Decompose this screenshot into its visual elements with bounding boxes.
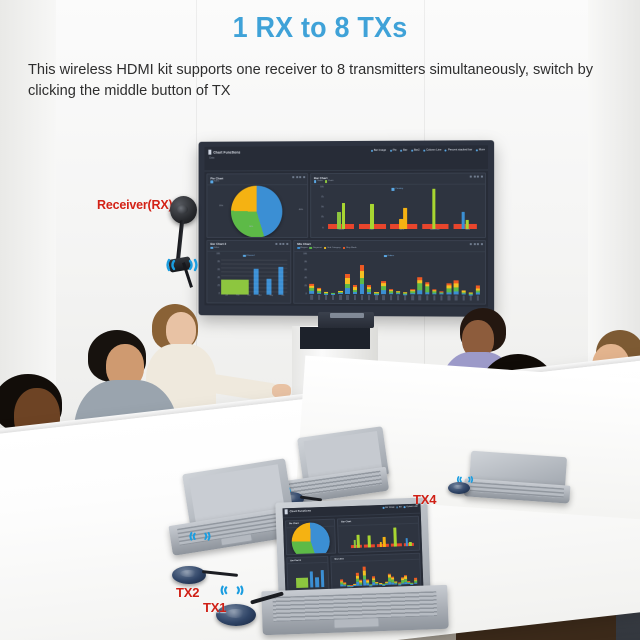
- stack-segment: [345, 288, 349, 294]
- menu-icon: [285, 509, 288, 514]
- stack-segment: [418, 283, 422, 290]
- tool-icon[interactable]: [292, 176, 294, 178]
- menu-item[interactable]: Bar2: [411, 149, 420, 152]
- tool-icon[interactable]: [477, 176, 479, 178]
- menu-item[interactable]: Percent stacked bar: [445, 148, 472, 151]
- bullet-icon: [371, 149, 373, 151]
- y-axis: 100806040200: [296, 252, 307, 294]
- menu-icon: [208, 150, 211, 155]
- tv-screen: Chart Functions Data Bar Image Pie Bar B…: [204, 145, 488, 306]
- stack-segment: [447, 292, 451, 294]
- stack-segment: [476, 293, 480, 295]
- stacked-bar: [331, 288, 335, 294]
- bullet-icon: [390, 149, 392, 151]
- menu-item[interactable]: More: [476, 148, 485, 151]
- stacked-bar: [345, 268, 349, 294]
- legend-swatch: [384, 255, 387, 258]
- bullet-icon: [411, 149, 413, 151]
- stack-segment: [425, 292, 429, 294]
- wifi-icon: [165, 256, 199, 276]
- bullet-icon: [476, 149, 478, 151]
- legend-swatch: [324, 246, 326, 248]
- wall-tv: Chart Functions Data Bar Image Pie Bar B…: [197, 141, 493, 316]
- panel-body: Orders 100806040200: [294, 250, 485, 303]
- bullet-icon: [396, 507, 397, 508]
- stacked-bar: [413, 572, 416, 583]
- stack-segment: [338, 293, 342, 294]
- transmitter-dongle-icon: [172, 566, 206, 584]
- panel-bar-chart: Bar Chart Sales Profit: [310, 173, 486, 238]
- bullet-icon: [383, 507, 384, 508]
- stack-segment: [374, 294, 378, 295]
- stacked-bar: [461, 282, 465, 295]
- bullet-icon: [404, 506, 405, 507]
- panel-tools[interactable]: [470, 176, 483, 178]
- x-tick: [346, 295, 348, 300]
- x-tick: [470, 296, 472, 301]
- stack-segment: [396, 293, 400, 294]
- tool-icon[interactable]: [474, 243, 476, 245]
- stack-segment: [418, 290, 422, 294]
- laptop-panel-pie: Pie Chart: [285, 519, 336, 556]
- product-marketing-image: 1 RX to 8 TXs This wireless HDMI kit sup…: [0, 0, 640, 640]
- panel-mix-chart: Mix Chart Region Segment Sub Category Sh…: [293, 239, 486, 304]
- stacked-bar: [353, 277, 357, 294]
- menu-item[interactable]: Bar Image: [371, 149, 386, 152]
- stacked-bar: [454, 272, 458, 294]
- tool-icon[interactable]: [279, 242, 281, 244]
- stacked-bar: [476, 277, 480, 294]
- legend-swatch: [210, 246, 212, 248]
- menu-item[interactable]: Bar: [400, 149, 407, 152]
- pie-slice-label: 30%: [249, 226, 253, 228]
- stacked-bar: [425, 274, 429, 294]
- x-axis: Central East North South East West: [325, 229, 483, 236]
- tool-icon[interactable]: [276, 242, 278, 244]
- receiver-label: Receiver(RX): [97, 198, 172, 212]
- tool-icon[interactable]: [481, 243, 483, 245]
- stack-segment: [432, 293, 436, 294]
- bullet-icon: [400, 149, 402, 151]
- pie-slice-label: 45%: [299, 209, 303, 211]
- x-tick: [411, 295, 413, 300]
- dashboard-row-top: Pie Chart Sales: [206, 173, 486, 238]
- x-tick: [419, 295, 421, 300]
- x-tick: [448, 295, 450, 300]
- tx4-label: TX4: [413, 492, 436, 507]
- legend-swatch: [243, 254, 245, 256]
- panel-bar-chart-2: Bar Chart 2 Value: [206, 239, 291, 303]
- dashboard-menu: Bar Image Pie Bar Bar2 Column Line Perce…: [371, 148, 485, 152]
- stacked-bar: [403, 286, 407, 294]
- x-tick: [354, 295, 356, 300]
- laptop-stacked-plot: [340, 561, 418, 586]
- panel-tools[interactable]: [276, 242, 289, 244]
- area-fill: [221, 280, 249, 295]
- menu-item[interactable]: Pie: [390, 149, 397, 152]
- laptop-keyboard[interactable]: [470, 481, 564, 498]
- dashboard: Chart Functions Data Bar Image Pie Bar B…: [204, 145, 488, 306]
- panel-legend: Value: [210, 246, 219, 248]
- stack-segment: [414, 583, 417, 584]
- laptop-panel-bar: Bar Chart: [337, 516, 420, 554]
- tool-icon[interactable]: [286, 242, 288, 244]
- stacked-bar: [432, 281, 436, 294]
- page-subtext: This wireless HDMI kit supports one rece…: [28, 60, 622, 102]
- stack-segment: [324, 293, 328, 294]
- laptop-panel-mix: Mix Chart: [330, 553, 421, 591]
- stack-segment: [317, 292, 321, 293]
- stack-segment: [461, 293, 465, 294]
- stack-segment: [353, 292, 357, 294]
- tool-icon[interactable]: [470, 243, 472, 245]
- stacked-bar: [410, 281, 414, 294]
- stacked-bar: [338, 283, 342, 294]
- panel-body: Channel 100806040200: [207, 250, 290, 302]
- stack-segment: [360, 285, 364, 295]
- x-tick: [477, 296, 479, 301]
- x-tick: [361, 295, 363, 300]
- tool-icon[interactable]: [303, 176, 305, 178]
- stack-segment: [367, 292, 371, 294]
- tv-bezel: Chart Functions Data Bar Image Pie Bar B…: [199, 140, 495, 317]
- x-axis-ticks: [308, 295, 482, 301]
- legend-swatch: [297, 246, 299, 248]
- laptop-dashboard: Chart Functions Bar Image Bar Column Lin…: [283, 504, 424, 595]
- x-tick: [318, 295, 320, 300]
- laptop-pie-chart: [291, 522, 330, 556]
- stacked-bar: [317, 279, 321, 293]
- x-tick: [311, 295, 313, 300]
- panel-body: Country 1007550250: [311, 184, 485, 237]
- tx2-label: TX2: [176, 585, 199, 600]
- panel-body: Region 25% 45% 30%: [207, 184, 307, 236]
- tool-icon[interactable]: [474, 176, 476, 178]
- dashboard-grid: Pie Chart Sales: [204, 170, 488, 306]
- stacked-bar: [396, 284, 400, 294]
- tool-icon[interactable]: [470, 176, 472, 178]
- stacked-bar: [418, 270, 422, 294]
- stacked-bar: [367, 277, 371, 294]
- dashboard-header: Chart Functions Data Bar Image Pie Bar B…: [204, 145, 488, 171]
- stack-segment: [469, 294, 473, 295]
- stack-segment: [439, 294, 443, 295]
- bullet-icon: [423, 149, 425, 151]
- mix-top-label: Orders: [384, 255, 394, 258]
- stacked-bar: [439, 285, 443, 295]
- panel-tools[interactable]: [470, 243, 483, 245]
- stack-segment: [454, 291, 458, 294]
- laptop-panel-bar2: Bar Chart 2: [286, 556, 329, 592]
- x-tick: [440, 295, 442, 300]
- stacked-bar: [447, 275, 451, 294]
- x-tick: [325, 295, 327, 300]
- transmitter-dongle-icon: [448, 482, 470, 494]
- x-tick: [375, 295, 377, 300]
- x-tick: [462, 295, 464, 300]
- pie-slice-label: 25%: [219, 205, 223, 207]
- stack-segment: [310, 291, 314, 294]
- x-axis: Jan Feb Mar Apr May Jun: [221, 294, 288, 301]
- page-headline: 1 RX to 8 TXs: [22, 12, 617, 45]
- menu-item[interactable]: Column Line: [423, 149, 441, 152]
- bar2-plot: [221, 259, 287, 295]
- stack-segment: [410, 293, 414, 294]
- stacked-bar: [374, 286, 378, 294]
- dashboard-title: Chart Functions: [208, 150, 240, 155]
- legend-swatch: [314, 180, 316, 183]
- tool-icon[interactable]: [296, 176, 298, 178]
- stacked-bar: [324, 286, 328, 294]
- x-tick: [397, 295, 399, 300]
- stack-segment: [381, 290, 385, 294]
- tool-icon[interactable]: [283, 242, 285, 244]
- wifi-icon: [220, 584, 244, 598]
- x-tick: [455, 295, 457, 300]
- bullet-icon: [445, 149, 447, 151]
- stacked-bar: [310, 275, 314, 294]
- bar2-top-label: Channel: [243, 254, 254, 257]
- stack-segment: [389, 293, 393, 294]
- stacked-bar: [360, 262, 364, 294]
- x-tick: [426, 295, 428, 300]
- stack-segment: [360, 271, 364, 279]
- panel-pie-chart: Pie Chart Sales: [206, 173, 308, 237]
- x-tick: [390, 295, 392, 300]
- stacked-bar: [381, 273, 385, 294]
- panel-legend: Region Segment Sub Category Ship Mode: [297, 246, 356, 249]
- x-tick: [339, 295, 341, 300]
- stack-segment: [403, 294, 407, 295]
- legend-swatch: [310, 246, 312, 248]
- tv-brand-logo: [330, 313, 364, 318]
- panel-tools[interactable]: [292, 176, 305, 178]
- tv-stand-shadow: [300, 327, 370, 349]
- stacked-bar: [389, 281, 393, 294]
- bar-plot: [325, 186, 482, 229]
- y-axis: 100806040200: [209, 252, 220, 294]
- x-tick: [368, 295, 370, 300]
- x-tick: [382, 295, 384, 300]
- dashboard-subtitle: Data: [209, 157, 214, 160]
- menu-item[interactable]: Bar: [396, 506, 402, 508]
- tool-icon[interactable]: [481, 176, 483, 178]
- panel-legend: Sales: [210, 180, 219, 183]
- tool-icon[interactable]: [477, 243, 479, 245]
- tx1-label: TX1: [203, 600, 226, 615]
- tool-icon[interactable]: [299, 176, 301, 178]
- legend-swatch: [325, 180, 327, 183]
- pie-chart: [231, 186, 282, 238]
- panel-legend: Sales Profit: [314, 180, 334, 183]
- laptop-trackpad[interactable]: [333, 617, 380, 629]
- stacked-bar: [469, 286, 473, 294]
- x-tick: [433, 295, 435, 300]
- legend-swatch: [343, 246, 345, 249]
- x-tick: [332, 295, 334, 300]
- y-axis: 1007550250: [313, 186, 324, 228]
- x-tick: [404, 295, 406, 300]
- dashboard-row-bottom: Bar Chart 2 Value: [206, 239, 486, 304]
- legend-swatch: [210, 180, 212, 182]
- menu-item[interactable]: Bar Image: [383, 507, 395, 509]
- wifi-icon: [189, 530, 211, 543]
- stacked-bar-plot: [308, 259, 482, 294]
